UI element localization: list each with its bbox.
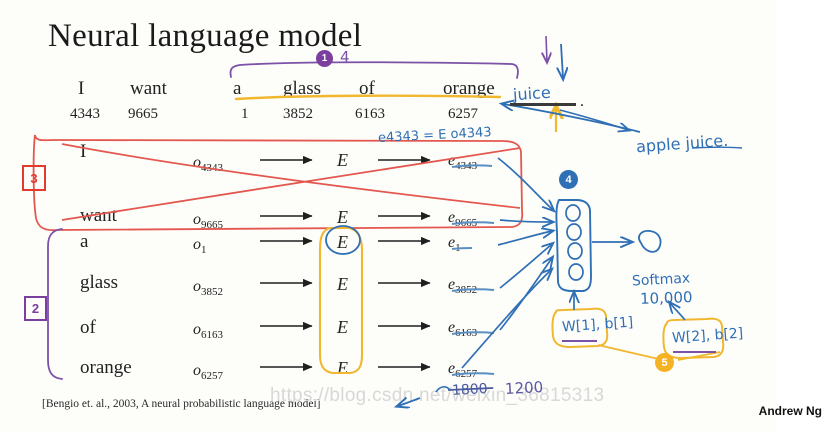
handwriting-juice: juice [512,83,551,105]
softmax-node [639,231,661,252]
sentence-period: . [580,93,584,111]
ink-squiggle-dim [436,387,450,392]
hidden-layer-neurons [566,205,583,280]
yellow-link-w1-to-badge5 [598,345,663,360]
yellow-underline-context [236,96,500,99]
annotation-badge-3: 3 [22,165,46,191]
blue-underlines-embeddings [452,165,494,375]
purple-down-arrow-juice [546,36,547,62]
blue-arrow-to-apple-juice [560,110,628,130]
blue-circle-embedding-matrix [326,226,360,254]
annotation-ink-layer [0,0,836,431]
handwriting-dim-crossed-out: 1800 [452,381,488,399]
handwriting-softmax-label: Softmax [632,270,691,289]
annotation-badge-1: 1 [316,50,333,67]
red-cross-stroke-a [62,144,520,208]
blue-down-arrow-juice [561,44,563,78]
slide-canvas: Neural language model I want a glass of … [0,0,836,431]
printed-arrows-onehot-to-E [260,160,312,367]
purple-bracket-four-words [48,229,62,379]
blue-arrow-citation [398,398,420,406]
handwriting-window-size: 4 [340,48,350,66]
handwriting-dim-value: 1200 [505,378,544,398]
printed-arrows-E-to-embedding [378,160,430,367]
annotation-badge-5: 5 [655,353,674,372]
purple-context-bracket [230,62,517,78]
handwriting-vocab-size: 10,000 [640,288,693,308]
blank-answer-line [510,103,576,106]
hidden-layer-box [556,200,591,291]
red-cross-stroke-b [62,148,520,220]
annotation-badge-4: 4 [559,170,578,189]
annotation-badge-2: 2 [24,296,47,321]
blue-arrows-to-hidden-layer [462,158,553,368]
